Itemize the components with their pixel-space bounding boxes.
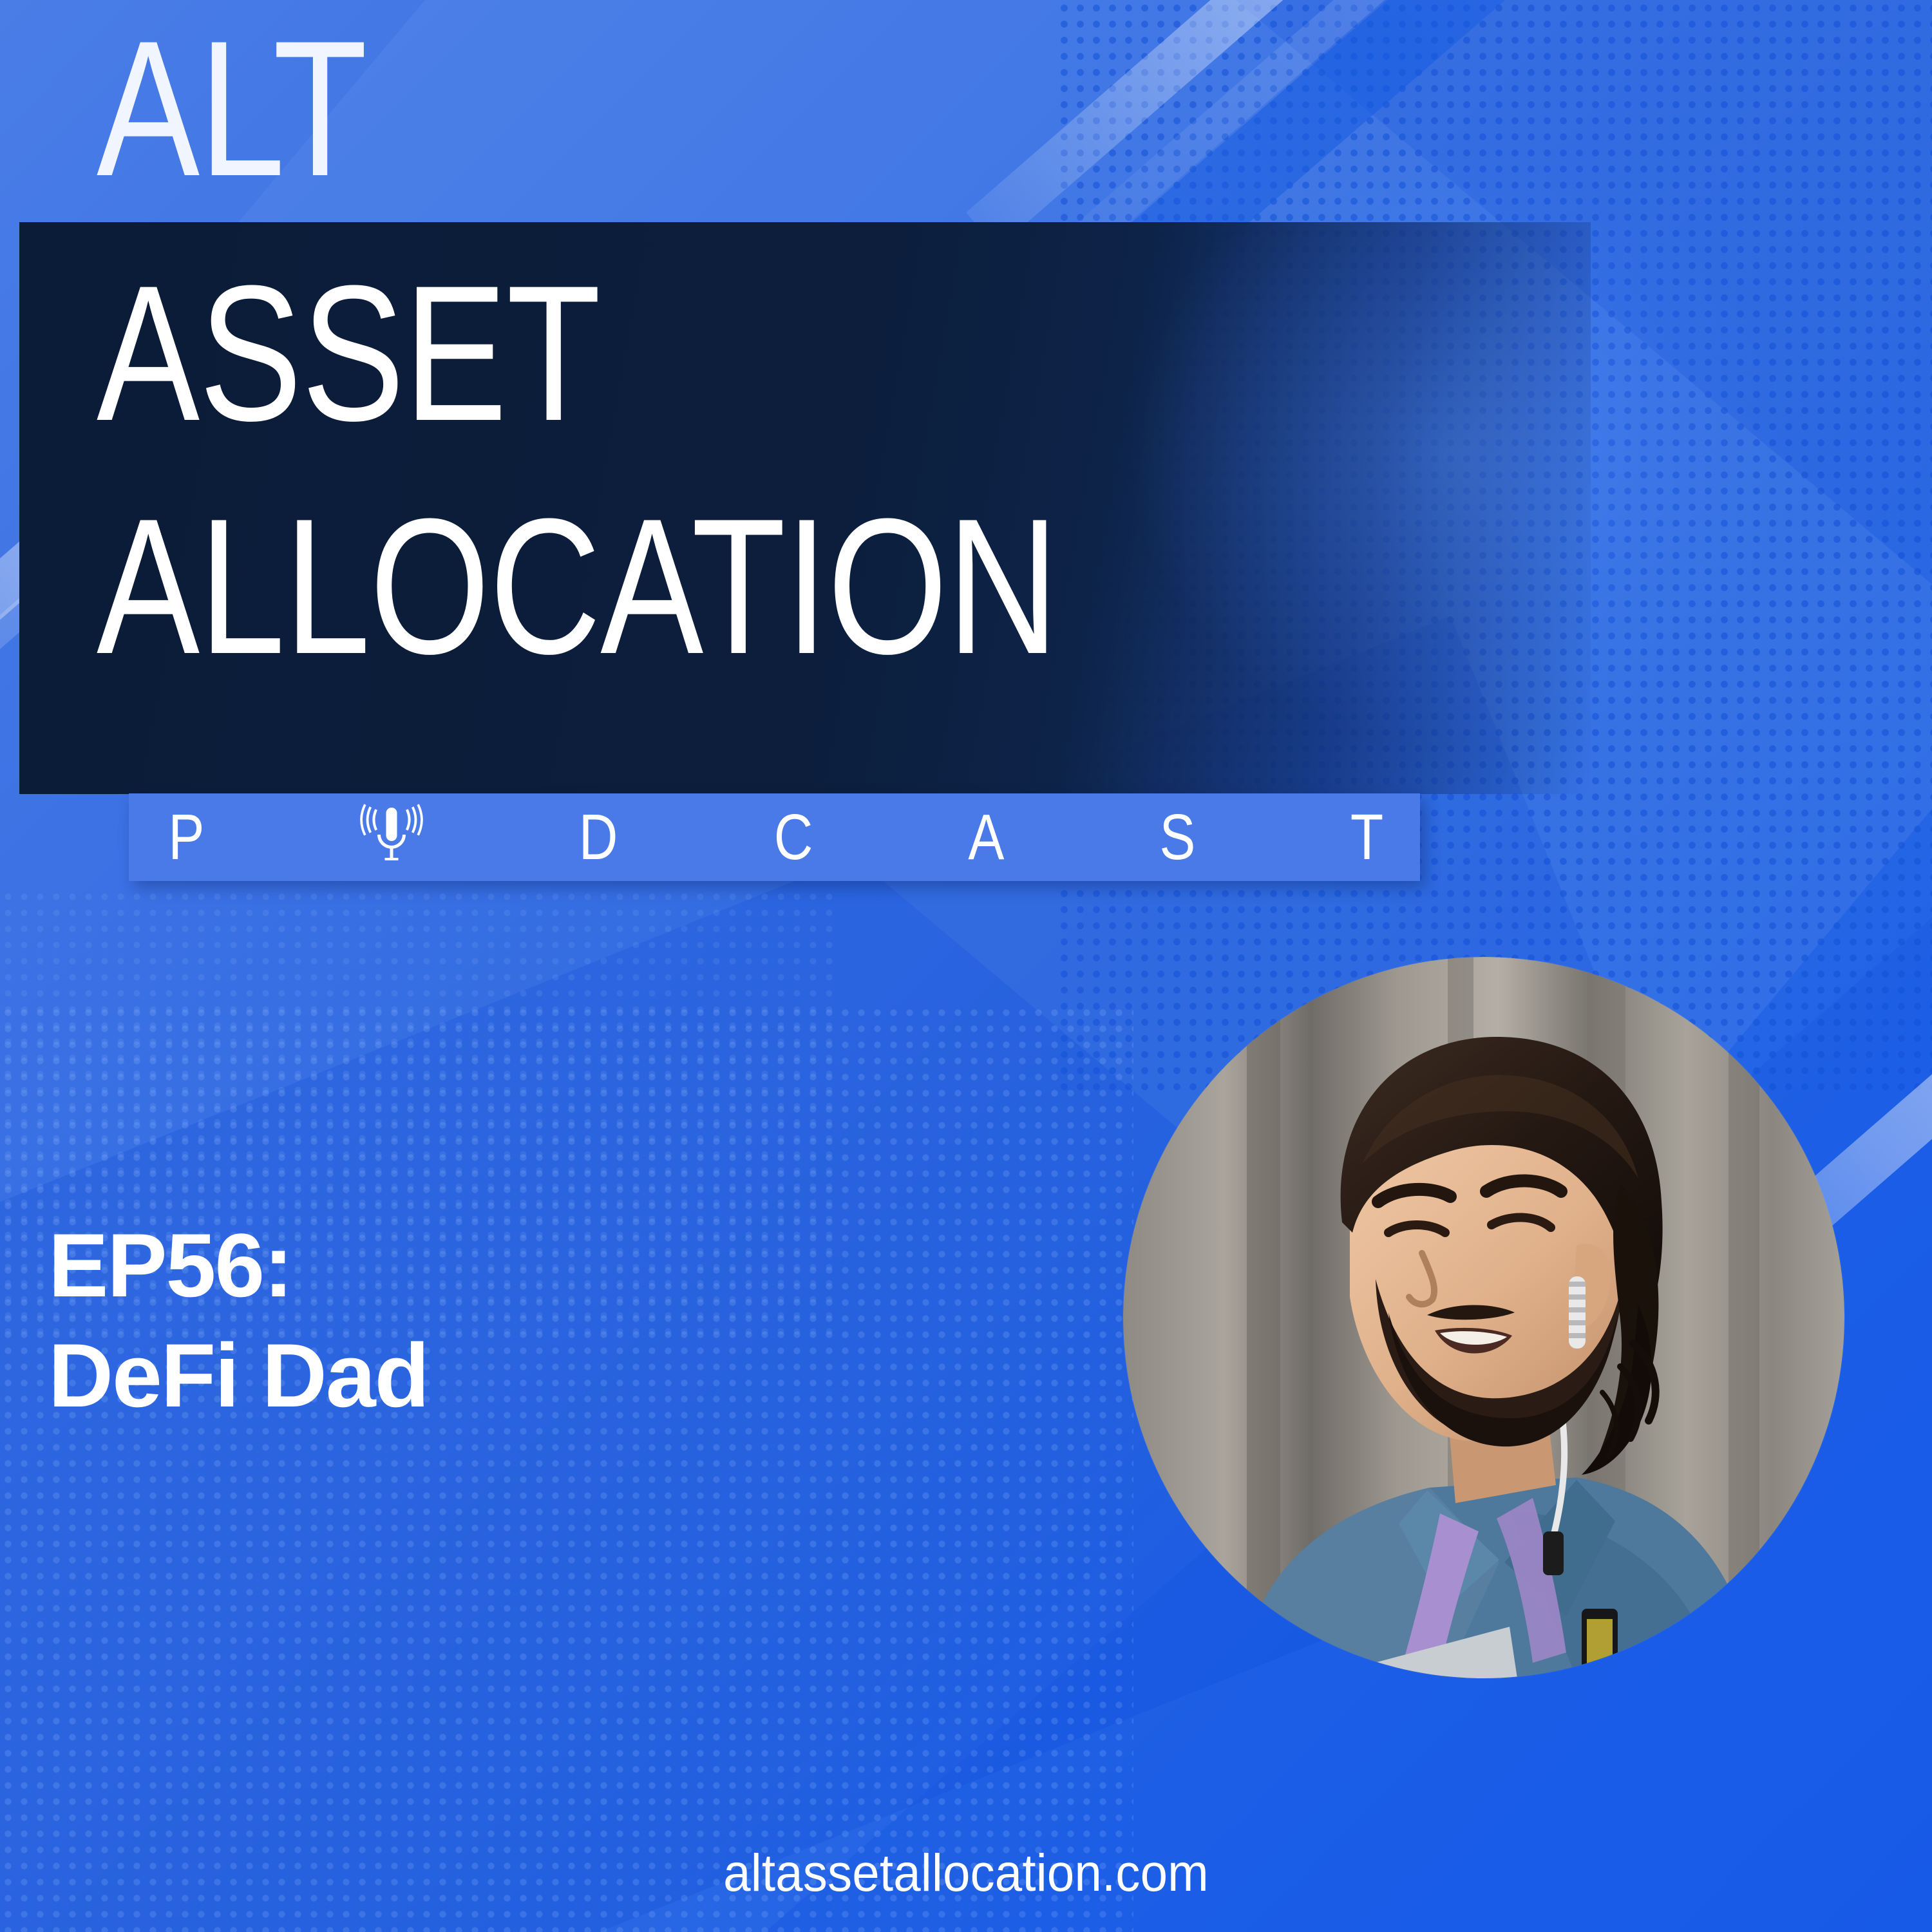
podcast-letter-p: P bbox=[168, 805, 204, 869]
podcast-letter-d: D bbox=[579, 805, 618, 869]
guest-portrait-avatar bbox=[1123, 957, 1844, 1678]
episode-title: EP56: DeFi Dad bbox=[48, 1211, 428, 1431]
brand-word-asset: ASSET bbox=[97, 256, 600, 450]
podcast-letters: P bbox=[129, 793, 1420, 881]
microphone-icon bbox=[356, 799, 427, 875]
podcast-cover-art: ALT ASSET ALLOCATION P bbox=[0, 0, 1932, 1932]
podcast-letter-t: T bbox=[1350, 805, 1383, 869]
podcast-letter-c: C bbox=[773, 805, 813, 869]
podcast-letter-a: A bbox=[968, 805, 1004, 869]
website-url: altassetallocation.com bbox=[68, 1843, 1864, 1904]
brand-word-alt: ALT bbox=[97, 12, 366, 205]
podcast-letter-s: S bbox=[1159, 805, 1195, 869]
podcast-banner: P bbox=[129, 793, 1420, 881]
brand-word-allocation: ALLOCATION bbox=[97, 489, 1058, 683]
